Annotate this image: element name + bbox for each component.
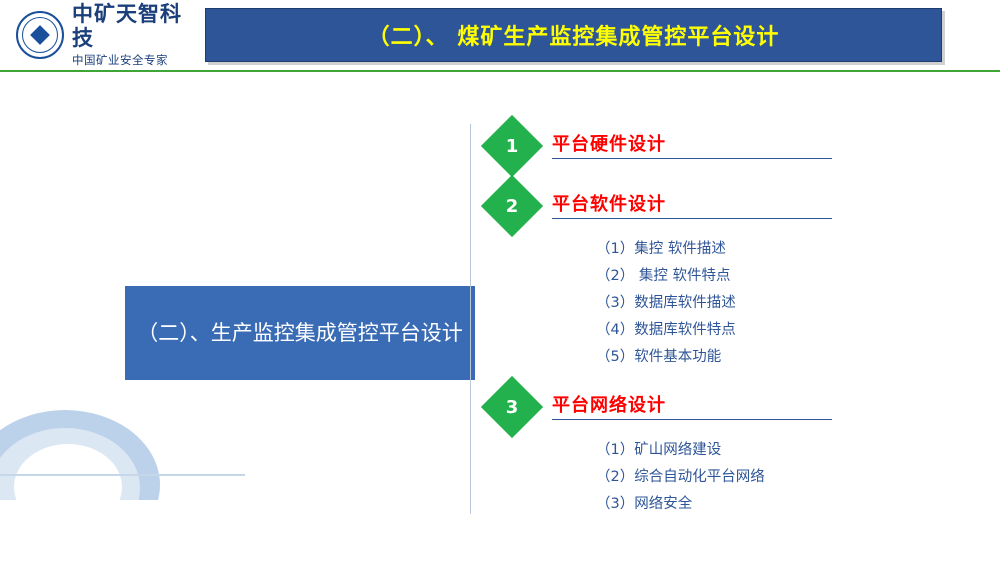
section-2-items: （1）集控 软件描述 （2） 集控 软件特点 （3）数据库软件描述 （4）数据库… — [490, 236, 890, 371]
list-item: （5）软件基本功能 — [490, 344, 890, 371]
section-1-underline — [552, 158, 832, 159]
list-item: （2） 集控 软件特点 — [490, 263, 890, 290]
section-3-number: 3 — [490, 385, 534, 429]
logo-ring — [22, 17, 58, 53]
list-item: （3）网络安全 — [490, 491, 890, 518]
company-seal-logo-icon — [16, 11, 64, 59]
slide-title: （二）、 煤矿生产监控集成管控平台设计 — [368, 19, 780, 51]
section-3-header: 3 平台网络设计 — [490, 385, 890, 437]
logo-diamond — [30, 25, 50, 45]
left-caption-text: （二）、生产监控集成管控平台设计 — [137, 317, 463, 349]
list-item: （4）数据库软件特点 — [490, 317, 890, 344]
section-1-title: 平台硬件设计 — [552, 130, 666, 156]
list-item: （1）矿山网络建设 — [490, 437, 890, 464]
section-2-underline — [552, 218, 832, 219]
company-tagline: 中国矿业安全专家 — [72, 52, 196, 68]
section-2-number: 2 — [490, 184, 534, 228]
logo-text-block: 中矿天智科技 中国矿业安全专家 — [72, 2, 196, 68]
section-2-header: 2 平台软件设计 — [490, 184, 890, 236]
list-item: （1）集控 软件描述 — [490, 236, 890, 263]
section-2: 2 平台软件设计 （1）集控 软件描述 （2） 集控 软件特点 （3）数据库软件… — [490, 184, 890, 371]
vertical-divider — [470, 124, 471, 514]
section-1-number: 1 — [490, 124, 534, 168]
section-3-underline — [552, 419, 832, 420]
list-item: （3）数据库软件描述 — [490, 290, 890, 317]
left-caption-block: （二）、生产监控集成管控平台设计 — [125, 286, 475, 380]
arc-baseline — [0, 474, 245, 476]
section-1-header: 1 平台硬件设计 — [490, 124, 890, 176]
section-3-items: （1）矿山网络建设 （2）综合自动化平台网络 （3）网络安全 — [490, 437, 890, 518]
outline-list: 1 平台硬件设计 2 平台软件设计 （1）集控 软件描述 （2） 集控 软件特点… — [490, 124, 890, 518]
slide-header: 中矿天智科技 中国矿业安全专家 （二）、 煤矿生产监控集成管控平台设计 — [0, 0, 1000, 70]
slide-title-bar: （二）、 煤矿生产监控集成管控平台设计 — [205, 8, 942, 62]
section-3-title: 平台网络设计 — [552, 391, 666, 417]
company-name: 中矿天智科技 — [72, 2, 196, 50]
company-logo: 中矿天智科技 中国矿业安全专家 — [16, 4, 196, 66]
header-divider — [0, 70, 1000, 72]
section-3: 3 平台网络设计 （1）矿山网络建设 （2）综合自动化平台网络 （3）网络安全 — [490, 385, 890, 518]
section-1: 1 平台硬件设计 — [490, 124, 890, 176]
section-2-title: 平台软件设计 — [552, 190, 666, 216]
list-item: （2）综合自动化平台网络 — [490, 464, 890, 491]
decorative-arcs — [0, 390, 260, 500]
